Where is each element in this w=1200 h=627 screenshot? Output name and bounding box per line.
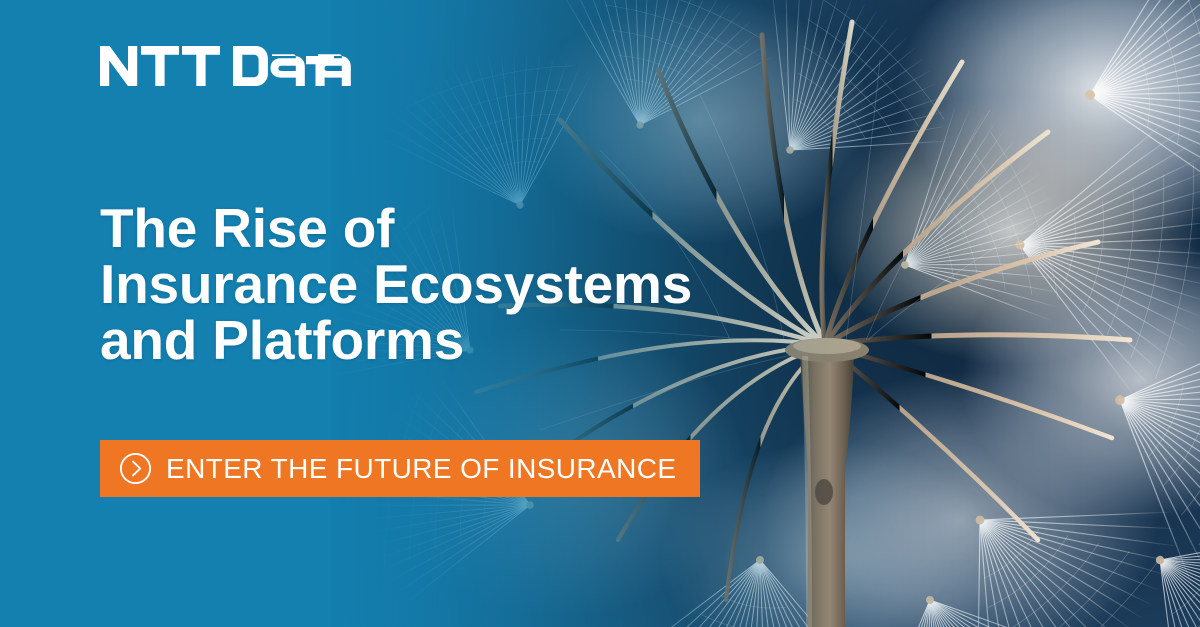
ntt-data-logo[interactable] — [100, 44, 352, 88]
headline-line-2: Insurance Ecosystems — [100, 256, 800, 312]
chevron-right-circle-icon — [119, 452, 152, 485]
headline-line-1: The Rise of — [100, 200, 800, 256]
headline: The Rise of Insurance Ecosystems and Pla… — [100, 200, 800, 368]
promo-banner: The Rise of Insurance Ecosystems and Pla… — [0, 0, 1200, 627]
enter-the-future-of-insurance-button[interactable]: ENTER THE FUTURE OF INSURANCE — [100, 440, 700, 497]
ntt-data-logo-mark — [100, 44, 352, 88]
headline-line-3: and Platforms — [100, 312, 800, 368]
cta-label: ENTER THE FUTURE OF INSURANCE — [166, 455, 676, 483]
